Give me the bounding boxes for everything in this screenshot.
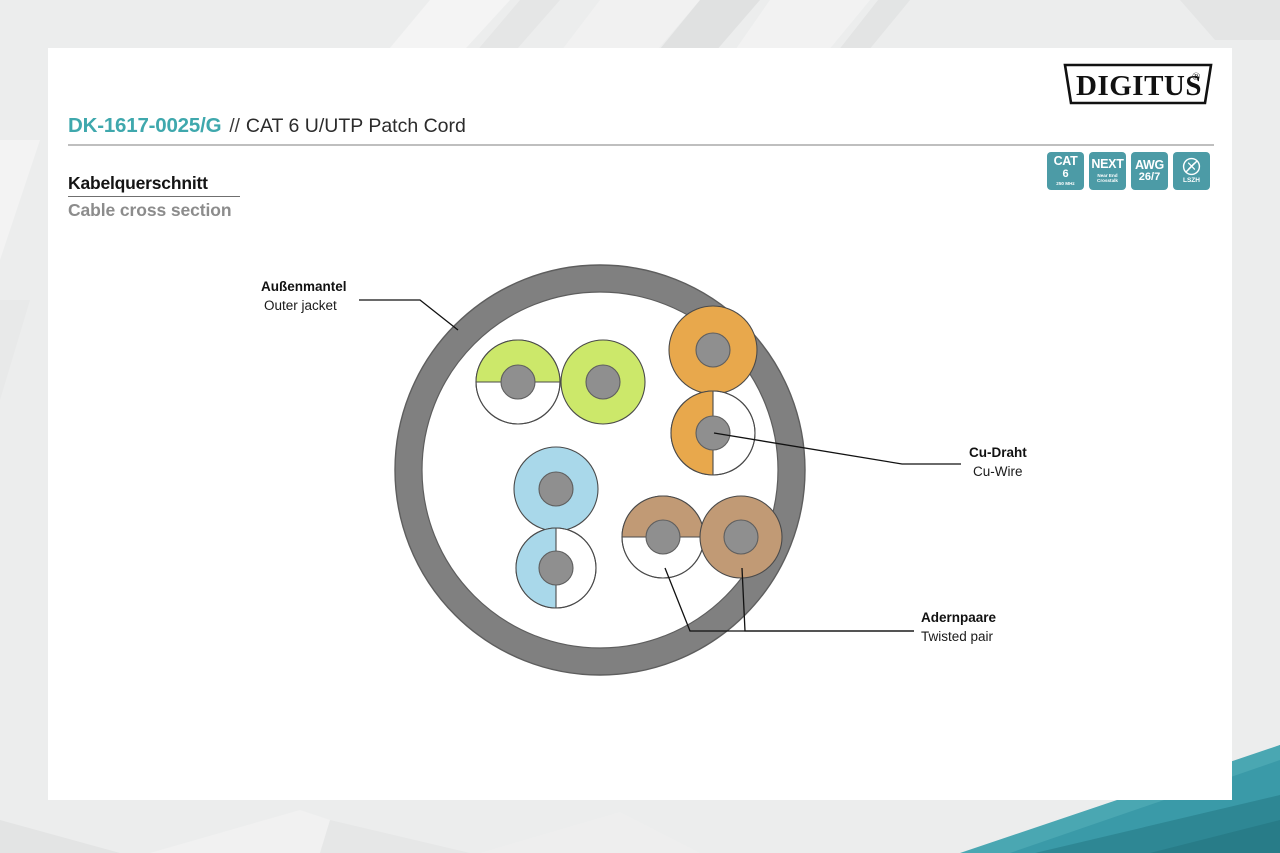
callout-label-de: Adernpaare [921,610,997,625]
brown-wire [700,496,782,578]
copper-core [696,416,730,450]
copper-core [696,333,730,367]
callout-label-en: Outer jacket [264,298,337,313]
brown-white-wire [622,496,704,578]
orange-white-wire [671,391,755,475]
content-panel: DIGITUS ® DK-1617-0025/G//CAT 6 U/UTP Pa… [48,48,1232,800]
copper-core [539,551,573,585]
copper-core [501,365,535,399]
copper-core [646,520,680,554]
green-wire [561,340,645,424]
callout-label-de: Außenmantel [261,279,347,294]
copper-core [724,520,758,554]
callout-leader-line [359,300,458,330]
callout-label-en: Twisted pair [921,629,994,644]
cable-cross-section-diagram: CAT 6 U/UTP cable cross section [48,48,1232,800]
copper-core [586,365,620,399]
copper-core [539,472,573,506]
outer-jacket-callout: Außenmantel Outer jacket [261,279,458,330]
orange-wire [669,306,757,394]
slide-page: DIGITUS ® DK-1617-0025/G//CAT 6 U/UTP Pa… [0,0,1280,853]
callout-label-de: Cu-Draht [969,445,1027,460]
callout-label-en: Cu-Wire [973,464,1023,479]
green-white-wire [476,340,560,424]
blue-wire [514,447,598,531]
blue-white-wire [516,528,596,608]
